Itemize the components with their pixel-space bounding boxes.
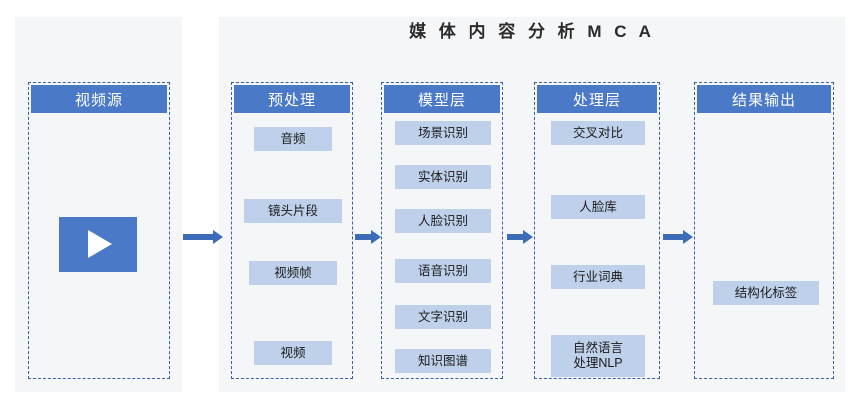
play-triangle — [88, 230, 112, 258]
node-video[interactable]: 视频 — [254, 341, 332, 365]
node-video-frame[interactable]: 视频帧 — [249, 261, 337, 285]
stage-model-layer[interactable]: 模型层 场景识别 实体识别 人脸识别 语音识别 文字识别 知识图谱 — [381, 82, 503, 379]
stage-body-video-source — [29, 113, 169, 378]
arrow-source-to-preprocessing — [183, 230, 223, 244]
arrow-head — [213, 230, 223, 244]
stage-header-result-output: 结果输出 — [697, 85, 831, 113]
node-entity-recognition[interactable]: 实体识别 — [395, 165, 491, 189]
arrow-processing-to-output — [663, 230, 693, 244]
stage-video-source[interactable]: 视频源 — [28, 82, 170, 379]
node-text-recognition[interactable]: 文字识别 — [395, 305, 491, 329]
stage-body-preprocessing: 音频 镜头片段 视频帧 视频 — [232, 113, 352, 378]
stage-body-model-layer: 场景识别 实体识别 人脸识别 语音识别 文字识别 知识图谱 — [382, 113, 502, 378]
node-structured-tags[interactable]: 结构化标签 — [713, 281, 819, 305]
play-icon — [59, 217, 137, 272]
arrow-shaft — [507, 234, 523, 240]
arrow-head — [683, 230, 693, 244]
node-face-database[interactable]: 人脸库 — [551, 195, 645, 219]
stage-header-video-source: 视频源 — [31, 85, 167, 113]
stage-header-model-layer: 模型层 — [384, 85, 500, 113]
stage-header-preprocessing: 预处理 — [234, 85, 350, 113]
arrow-model-to-processing — [507, 230, 533, 244]
diagram-canvas: 媒 体 内 容 分 析 M C A 视频源 预处理 音频 镜头片段 视频帧 视频… — [0, 0, 859, 411]
arrow-shaft — [663, 234, 683, 240]
stage-processing-layer[interactable]: 处理层 交叉对比 人脸库 行业词典 自然语言 处理NLP — [534, 82, 660, 379]
stage-body-processing-layer: 交叉对比 人脸库 行业词典 自然语言 处理NLP — [535, 113, 659, 378]
stage-preprocessing[interactable]: 预处理 音频 镜头片段 视频帧 视频 — [231, 82, 353, 379]
node-knowledge-graph[interactable]: 知识图谱 — [395, 349, 491, 373]
node-face-recognition[interactable]: 人脸识别 — [395, 209, 491, 233]
node-speech-recognition[interactable]: 语音识别 — [395, 259, 491, 283]
arrow-preprocessing-to-model — [355, 230, 381, 244]
node-scene-recognition[interactable]: 场景识别 — [395, 121, 491, 145]
stage-header-processing-layer: 处理层 — [537, 85, 657, 113]
arrow-head — [523, 230, 533, 244]
node-shot-segment[interactable]: 镜头片段 — [244, 199, 342, 223]
node-audio[interactable]: 音频 — [254, 127, 332, 151]
node-industry-lexicon[interactable]: 行业词典 — [551, 265, 645, 289]
arrow-shaft — [183, 234, 213, 240]
arrow-head — [371, 230, 381, 244]
stage-body-result-output: 结构化标签 — [695, 113, 833, 378]
page-title: 媒 体 内 容 分 析 M C A — [219, 20, 845, 44]
node-nlp[interactable]: 自然语言 处理NLP — [551, 335, 645, 377]
stage-result-output[interactable]: 结果输出 结构化标签 — [694, 82, 834, 379]
arrow-shaft — [355, 234, 371, 240]
node-cross-comparison[interactable]: 交叉对比 — [551, 121, 645, 145]
